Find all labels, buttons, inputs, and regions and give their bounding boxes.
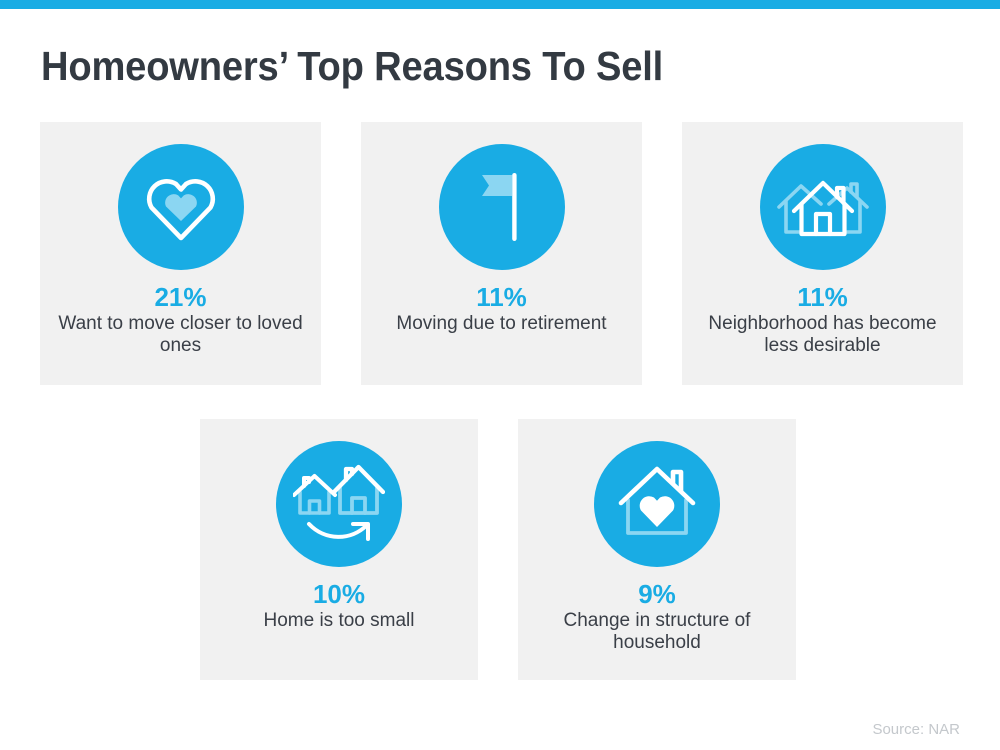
reason-label: Neighborhood has become less desirable [698,313,948,356]
reason-label: Want to move closer to loved ones [56,313,306,356]
reason-label: Home is too small [214,610,464,631]
heart-icon [142,171,220,243]
reason-card-change-in-structure: 9% Change in structure of household [518,419,796,680]
icon-badge [276,441,402,567]
percent-value: 10% [313,581,365,608]
house-upsize-arrow-icon [293,462,385,546]
infographic-page: Homeowners’ Top Reasons To Sell 21% Want… [0,0,1000,750]
icon-badge [118,144,244,270]
reason-label: Moving due to retirement [377,313,627,334]
icon-badge [594,441,720,567]
reason-card-want-to-move-closer: 21% Want to move closer to loved ones [40,122,321,385]
source-attribution: Source: NAR [872,721,960,738]
card-row-1: 21% Want to move closer to loved ones 11… [40,122,963,385]
reason-card-home-too-small: 10% Home is too small [200,419,478,680]
reason-card-neighborhood-less-desirable: 11% Neighborhood has become less desirab… [682,122,963,385]
icon-badge [439,144,565,270]
top-accent-bar [0,0,1000,9]
reason-label: Change in structure of household [532,610,782,653]
neighborhood-houses-icon [777,170,869,244]
percent-value: 11% [797,284,848,311]
reason-card-moving-due-to-retirement: 11% Moving due to retirement [361,122,642,385]
icon-badge [760,144,886,270]
flag-icon [466,166,538,248]
page-title: Homeowners’ Top Reasons To Sell [41,43,663,90]
percent-value: 11% [476,284,527,311]
house-heart-icon [615,465,699,543]
card-row-2: 10% Home is too small [200,419,796,680]
percent-value: 21% [154,284,206,311]
percent-value: 9% [638,581,676,608]
